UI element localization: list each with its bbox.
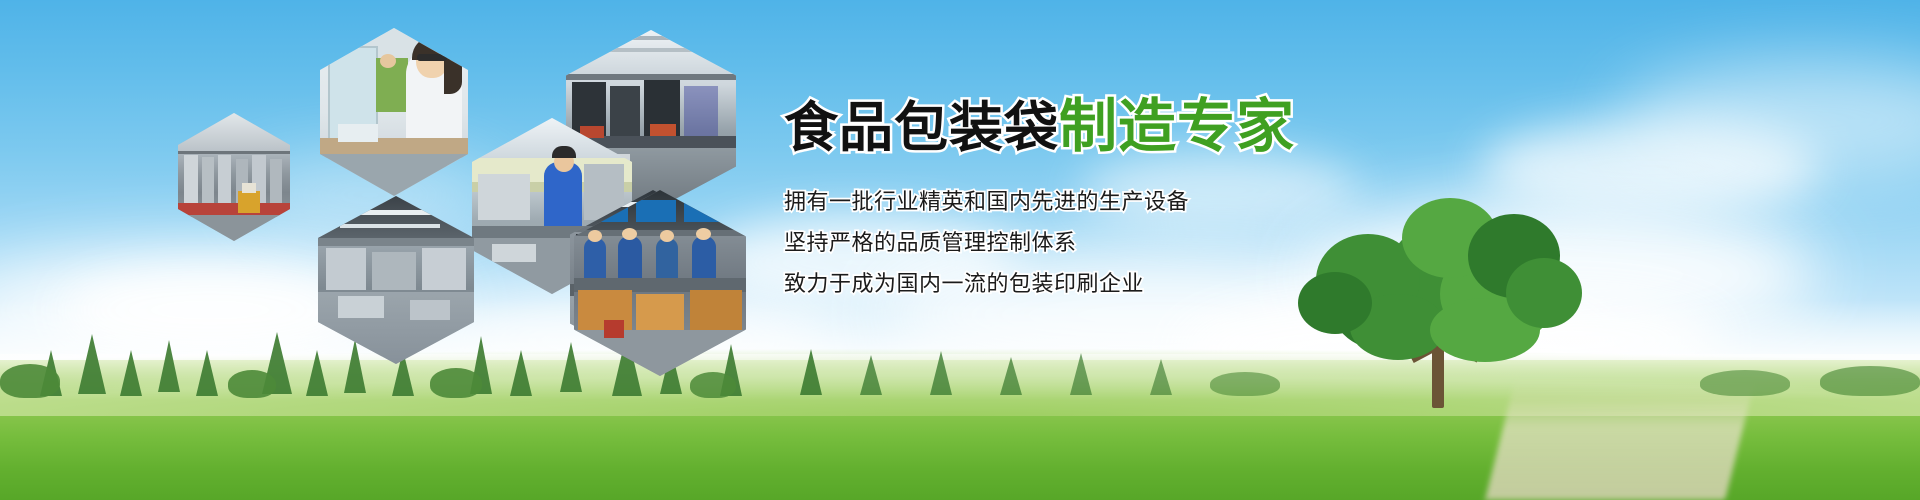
banner-subtitle-line-2: 坚持严格的品质管理控制体系 bbox=[784, 222, 1484, 263]
banner-subtitle-line-1: 拥有一批行业精英和国内先进的生产设备 bbox=[784, 181, 1484, 222]
banner-text-block: 食品包装袋制造专家 拥有一批行业精英和国内先进的生产设备 坚持严格的品质管理控制… bbox=[784, 96, 1484, 304]
hex-photo-warehouse-forklift-aisle[interactable] bbox=[178, 113, 290, 241]
hex-photo-lab-technician-inspection[interactable] bbox=[320, 28, 468, 196]
banner-subtitle-list: 拥有一批行业精英和国内先进的生产设备 坚持严格的品质管理控制体系 致力于成为国内… bbox=[784, 181, 1484, 304]
banner-subtitle-line-3: 致力于成为国内一流的包装印刷企业 bbox=[784, 263, 1484, 304]
hex-photo-production-floor-overview[interactable] bbox=[318, 196, 474, 364]
banner-headline: 食品包装袋制造专家 bbox=[784, 96, 1484, 159]
headline-primary: 食品包装袋 bbox=[784, 98, 1059, 158]
promo-banner: 食品包装袋制造专家 拥有一批行业精英和国内先进的生产设备 坚持严格的品质管理控制… bbox=[0, 0, 1920, 500]
headline-accent: 制造专家 bbox=[1059, 94, 1295, 159]
